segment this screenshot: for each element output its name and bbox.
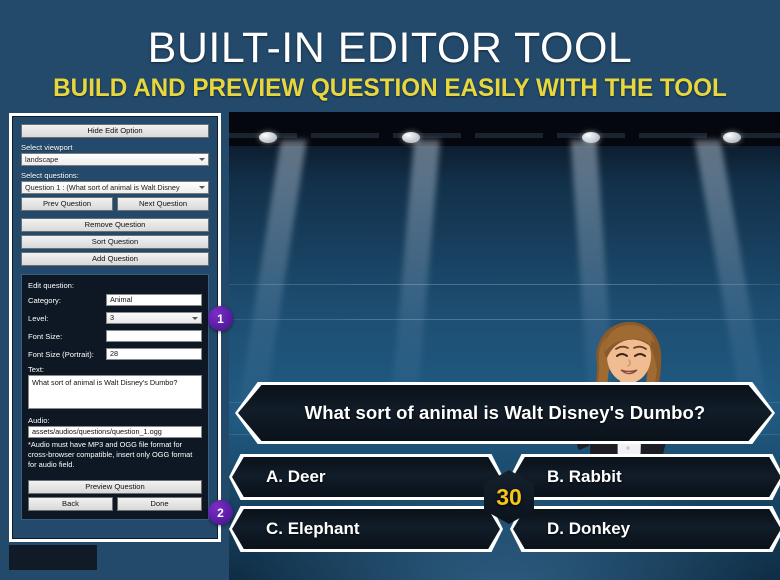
level-value: 3 <box>110 313 114 322</box>
select-viewport-dropdown[interactable]: landscape <box>21 153 209 166</box>
stage-lamp-icon <box>259 132 277 143</box>
next-question-button[interactable]: Next Question <box>117 197 209 211</box>
question-actions: Remove Question Sort Question Add Questi… <box>21 218 209 266</box>
answer-label: C. Elephant <box>232 519 360 539</box>
select-questions-value: Question 1 : (What sort of animal is Wal… <box>25 183 180 192</box>
answer-label: A. Deer <box>232 467 326 487</box>
audio-format-note: *Audio must have MP3 and OGG file format… <box>28 440 202 470</box>
text-label: Text: <box>28 365 202 374</box>
edit-question-heading: Edit question: <box>28 281 202 290</box>
font-size-input[interactable] <box>106 330 202 342</box>
level-label: Level: <box>28 314 106 323</box>
question-text-textarea[interactable]: What sort of animal is Walt Disney's Dum… <box>28 375 202 409</box>
level-dropdown[interactable]: 3 <box>106 312 202 324</box>
add-question-button[interactable]: Add Question <box>21 252 209 266</box>
select-viewport-value: landscape <box>25 155 58 164</box>
hide-edit-option-button[interactable]: Hide Edit Option <box>21 124 209 138</box>
font-size-label: Font Size: <box>28 332 106 341</box>
editor-panel: Hide Edit Option Select viewport landsca… <box>9 113 221 542</box>
select-questions-dropdown[interactable]: Question 1 : (What sort of animal is Wal… <box>21 181 209 194</box>
answer-option-a[interactable]: A. Deer <box>229 454 503 500</box>
category-input[interactable]: Animal <box>106 294 202 306</box>
answer-option-b[interactable]: B. Rabbit <box>510 454 780 500</box>
prev-question-button[interactable]: Prev Question <box>21 197 113 211</box>
editor-footer-buttons: Preview Question Back Done <box>28 480 202 511</box>
answer-option-d[interactable]: D. Donkey <box>510 506 780 552</box>
category-row: Category: Animal <box>28 293 202 307</box>
question-text: What sort of animal is Walt Disney's Dum… <box>238 402 772 424</box>
font-size-portrait-input[interactable]: 28 <box>106 348 202 360</box>
sort-question-button[interactable]: Sort Question <box>21 235 209 249</box>
stage-floor-line <box>229 319 780 320</box>
audio-label: Audio: <box>28 416 202 425</box>
page-subtitle: BUILD AND PREVIEW QUESTION EASILY WITH T… <box>12 74 769 102</box>
chevron-down-icon <box>192 317 198 320</box>
chevron-down-icon <box>199 186 205 189</box>
select-questions-label: Select questions: <box>21 171 209 180</box>
stage-floor-line <box>229 284 780 285</box>
level-row: Level: 3 <box>28 311 202 325</box>
stage-lamp-icon <box>723 132 741 143</box>
question-nav-row: Prev Question Next Question <box>21 197 209 211</box>
select-viewport-label: Select viewport <box>21 143 209 152</box>
edit-question-section: Edit question: Category: Animal Level: 3… <box>21 274 209 520</box>
done-button[interactable]: Done <box>117 497 202 511</box>
callout-badge-2: 2 <box>208 500 233 525</box>
audio-path-input[interactable]: assets/audios/questions/question_1.ogg <box>28 426 202 438</box>
font-size-row: Font Size: <box>28 329 202 343</box>
answer-option-c[interactable]: C. Elephant <box>229 506 503 552</box>
timer-value: 30 <box>496 484 522 511</box>
header-banner: BUILT-IN EDITOR TOOL BUILD AND PREVIEW Q… <box>0 0 780 112</box>
page-title: BUILT-IN EDITOR TOOL <box>0 24 780 72</box>
preview-question-button[interactable]: Preview Question <box>28 480 202 494</box>
back-button[interactable]: Back <box>28 497 113 511</box>
callout-badge-1: 1 <box>208 306 233 331</box>
remove-question-button[interactable]: Remove Question <box>21 218 209 232</box>
screenshot-root: BUILT-IN EDITOR TOOL BUILD AND PREVIEW Q… <box>0 0 780 580</box>
countdown-timer: 30 <box>484 470 534 524</box>
chevron-down-icon <box>199 158 205 161</box>
category-label: Category: <box>28 296 106 305</box>
panel-bottom-tab <box>9 545 97 570</box>
question-hex: What sort of animal is Walt Disney's Dum… <box>235 382 775 444</box>
font-size-portrait-row: Font Size (Portrait): 28 <box>28 347 202 361</box>
font-size-portrait-label: Font Size (Portrait): <box>28 350 106 359</box>
